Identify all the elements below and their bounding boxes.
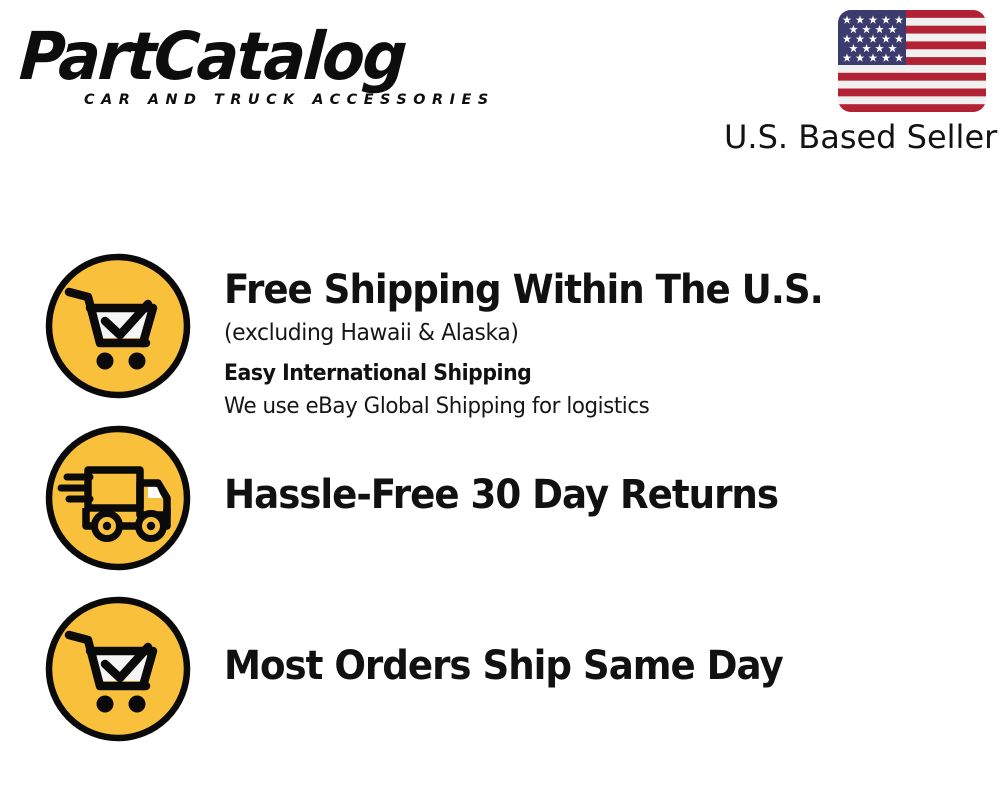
page-header: PartCatalog CAR AND TRUCK ACCESSORIES [0,0,1000,170]
feature-text-block: Free Shipping Within The U.S. (excluding… [196,248,1000,422]
seller-badge-label: U.S. Based Seller [724,118,986,156]
feature-subtitle-strong: Easy International Shipping [224,357,946,390]
delivery-truck-icon [43,423,193,573]
seller-badge: U.S. Based Seller [724,10,986,156]
feature-icon-badge [40,420,196,576]
feature-row: Most Orders Ship Same Day [0,591,1000,761]
feature-title: Free Shipping Within The U.S. [224,266,946,314]
us-flag-icon [838,10,986,112]
feature-row: Hassle-Free 30 Day Returns [0,420,1000,590]
shopping-cart-check-icon [43,594,193,744]
feature-icon-badge [40,248,196,404]
brand-tagline: CAR AND TRUCK ACCESSORIES [84,92,495,108]
feature-subtitle: (excluding Hawaii & Alaska) [224,316,961,350]
feature-row: Free Shipping Within The U.S. (excluding… [0,248,1000,418]
brand-wordmark: PartCatalog [18,24,407,90]
feature-subtitle-secondary: We use eBay Global Shipping for logistic… [224,390,961,422]
shopping-cart-check-icon [43,251,193,401]
feature-icon-badge [40,591,196,747]
feature-text-block: Most Orders Ship Same Day [196,591,1000,690]
feature-title: Most Orders Ship Same Day [224,642,946,690]
feature-text-block: Hassle-Free 30 Day Returns [196,420,1000,519]
feature-title: Hassle-Free 30 Day Returns [224,471,946,519]
brand-logo[interactable]: PartCatalog CAR AND TRUCK ACCESSORIES [22,24,492,120]
